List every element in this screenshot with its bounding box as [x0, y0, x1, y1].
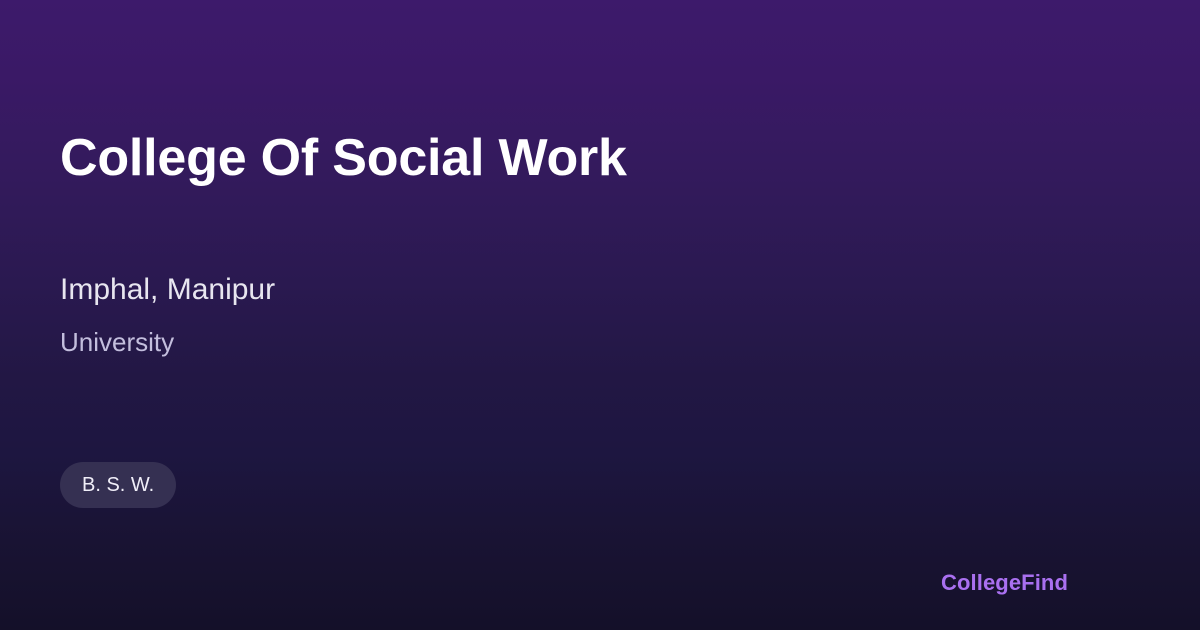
card-content: College Of Social Work Imphal, Manipur U… [60, 0, 1140, 630]
college-category: University [60, 325, 174, 359]
degree-badge-list: B. S. W. [60, 462, 176, 508]
page-title: College Of Social Work [60, 126, 627, 190]
college-share-card: College Of Social Work Imphal, Manipur U… [0, 0, 1200, 630]
college-location: Imphal, Manipur [60, 271, 275, 309]
brand-wordmark: CollegeFind [941, 569, 1068, 597]
degree-badge: B. S. W. [60, 462, 176, 508]
